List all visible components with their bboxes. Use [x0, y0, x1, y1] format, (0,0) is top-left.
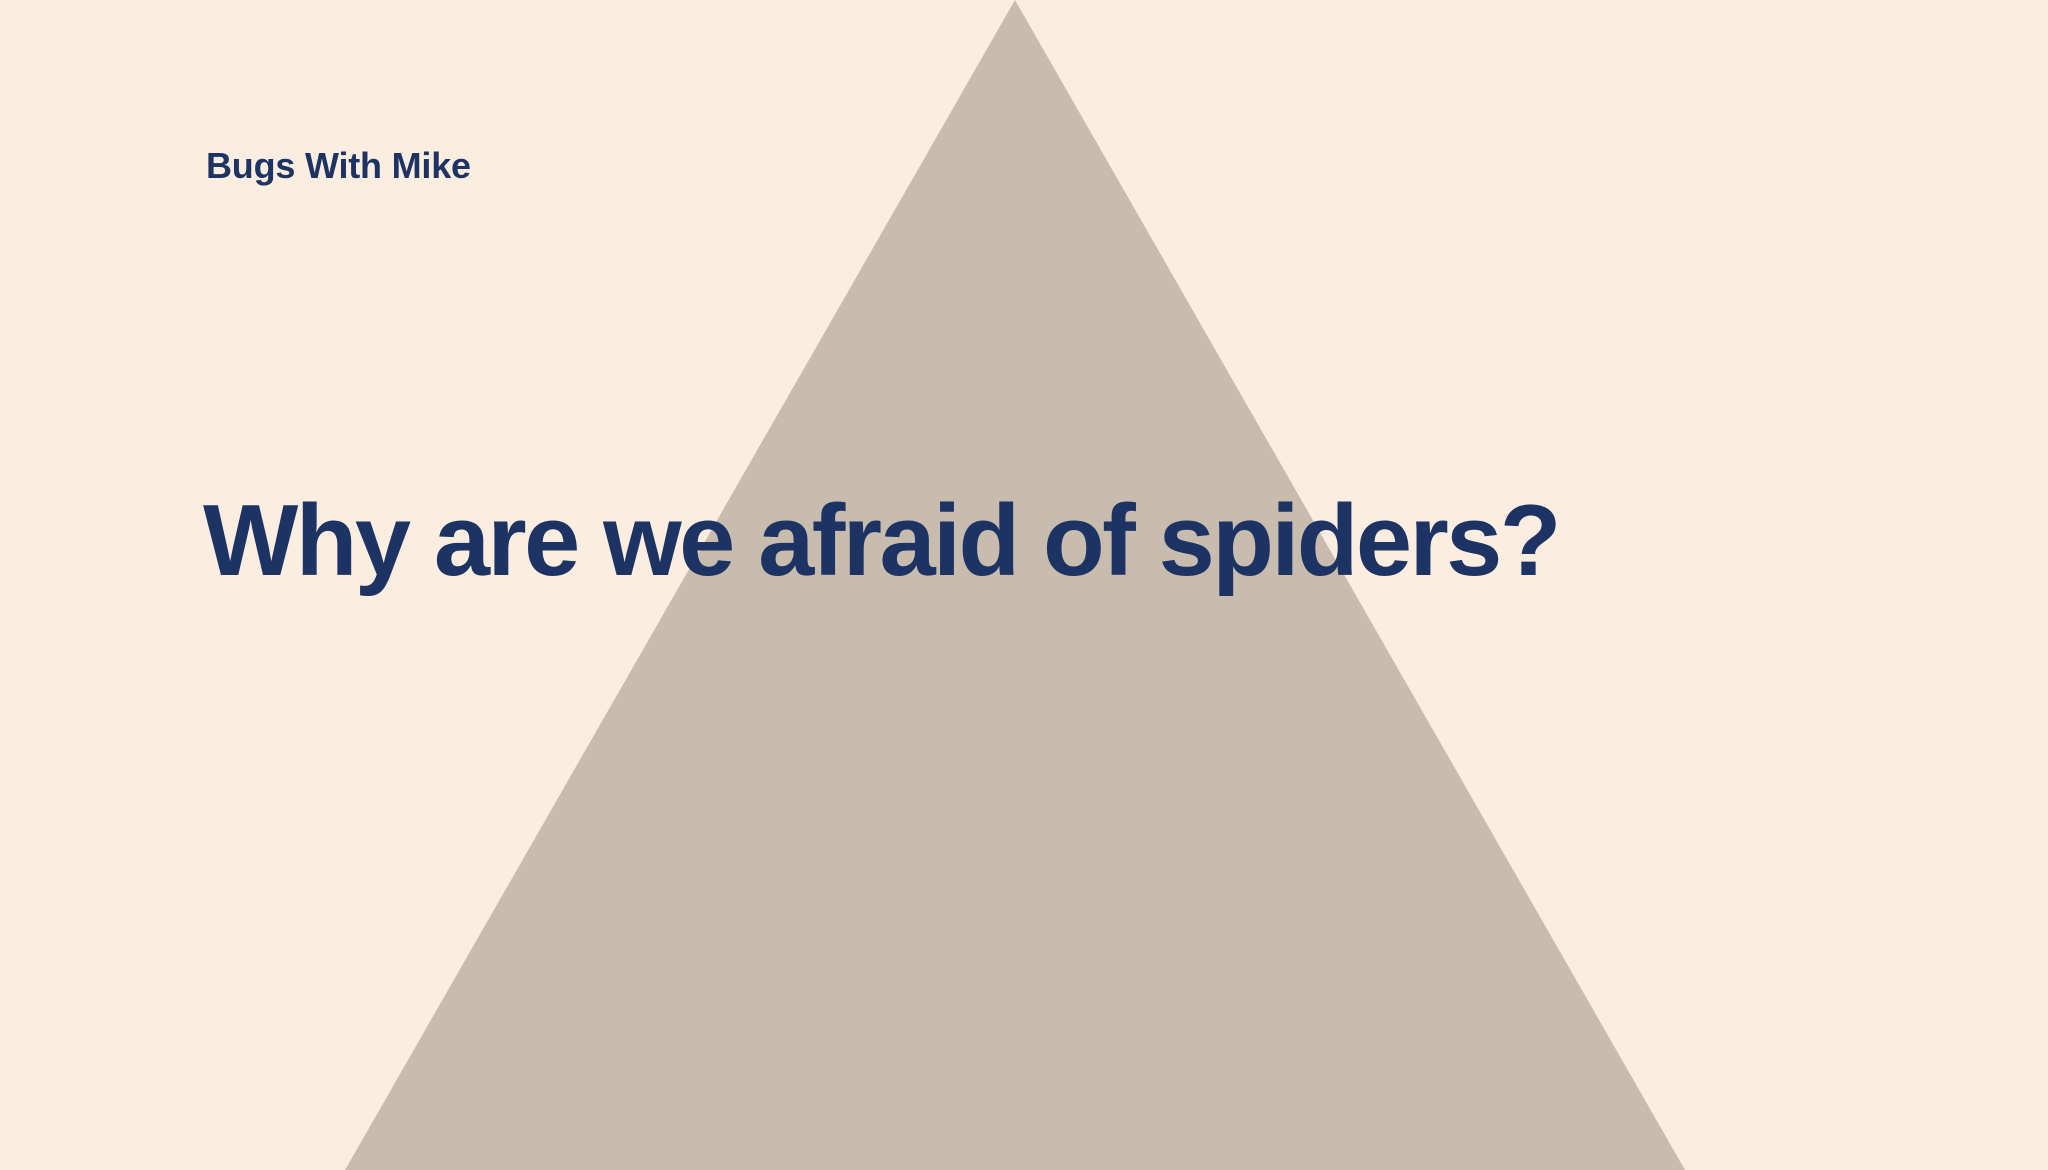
slide-content: Bugs With Mike Why are we afraid of spid… — [0, 0, 2048, 1170]
title-slide: Bugs With Mike Why are we afraid of spid… — [0, 0, 2048, 1170]
brand-title: Bugs With Mike — [206, 148, 471, 184]
page-title: Why are we afraid of spiders? — [203, 487, 1559, 596]
